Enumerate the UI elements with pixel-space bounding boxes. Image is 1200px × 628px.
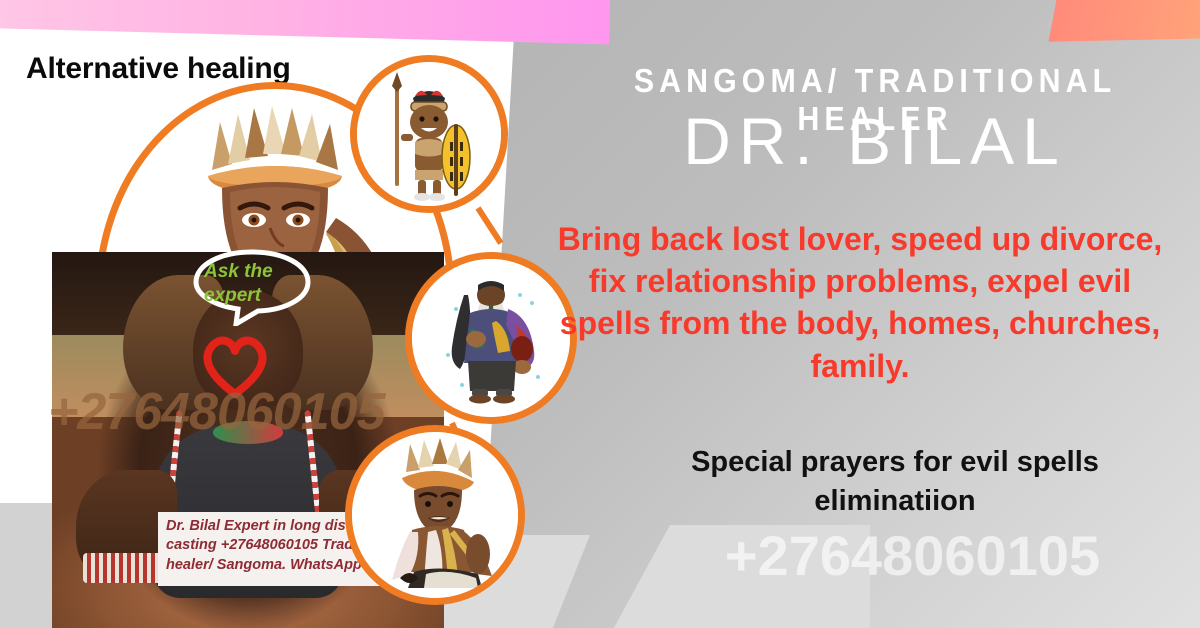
phone-number-watermark: +27648060105 xyxy=(640,523,1185,588)
top-orange-band xyxy=(1049,0,1200,42)
crouching-sangoma-illustration xyxy=(345,425,525,605)
speech-bubble-label: Ask the expert xyxy=(204,260,304,308)
speech-bubble-icon: Ask the expert xyxy=(190,248,314,326)
poster-canvas: Alternative healing xyxy=(0,0,1200,628)
photo-cuff-left xyxy=(83,553,161,583)
brand-name: DR. BILAL xyxy=(565,105,1185,178)
zulu-warrior-illustration xyxy=(350,55,508,213)
services-description: Bring back lost lover, speed up divorce,… xyxy=(540,218,1180,387)
special-prayers-text: Special prayers for evil spells eliminat… xyxy=(610,443,1180,521)
page-title: Alternative healing xyxy=(26,52,291,86)
